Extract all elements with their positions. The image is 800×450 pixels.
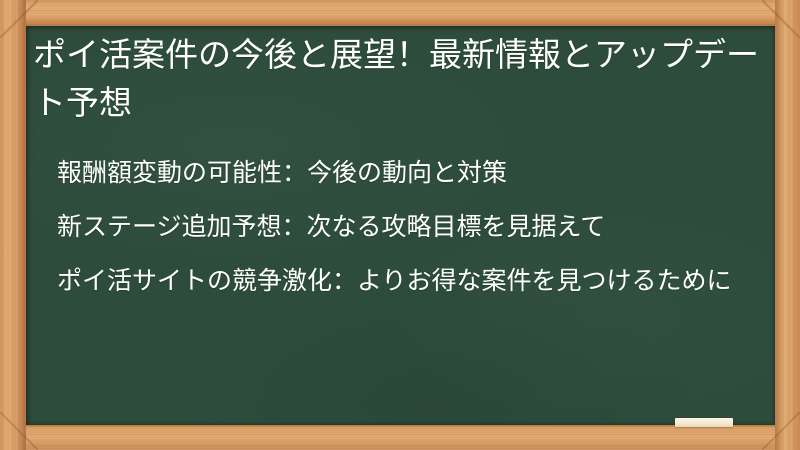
wood-grain-texture-top	[0, 0, 800, 26]
board-point-item: 報酬額変動の可能性：今後の動向と対策	[57, 154, 757, 192]
wood-grain-texture-left	[0, 0, 26, 450]
frame-rail-right	[775, 0, 800, 450]
frame-rail-left	[0, 0, 26, 450]
chalk-stick	[675, 418, 733, 427]
board-point-list: 報酬額変動の可能性：今後の動向と対策 新ステージ追加予想：次なる攻略目標を見据え…	[57, 154, 757, 300]
chalkboard-surface: ポイ活案件の今後と展望！最新情報とアップデート予想 報酬額変動の可能性：今後の動…	[26, 26, 775, 425]
board-point-item: ポイ活サイトの競争激化：よりお得な案件を見つけるために	[57, 262, 757, 300]
board-content: ポイ活案件の今後と展望！最新情報とアップデート予想 報酬額変動の可能性：今後の動…	[26, 26, 775, 425]
wood-grain-texture-right	[775, 0, 800, 450]
wood-grain-texture-bottom	[0, 425, 800, 450]
blackboard-frame: ポイ活案件の今後と展望！最新情報とアップデート予想 報酬額変動の可能性：今後の動…	[0, 0, 800, 450]
frame-rail-bottom-ledge	[0, 425, 800, 450]
board-point-item: 新ステージ追加予想：次なる攻略目標を見据えて	[57, 208, 757, 246]
board-title: ポイ活案件の今後と展望！最新情報とアップデート予想	[33, 31, 759, 127]
frame-rail-top	[0, 0, 800, 26]
